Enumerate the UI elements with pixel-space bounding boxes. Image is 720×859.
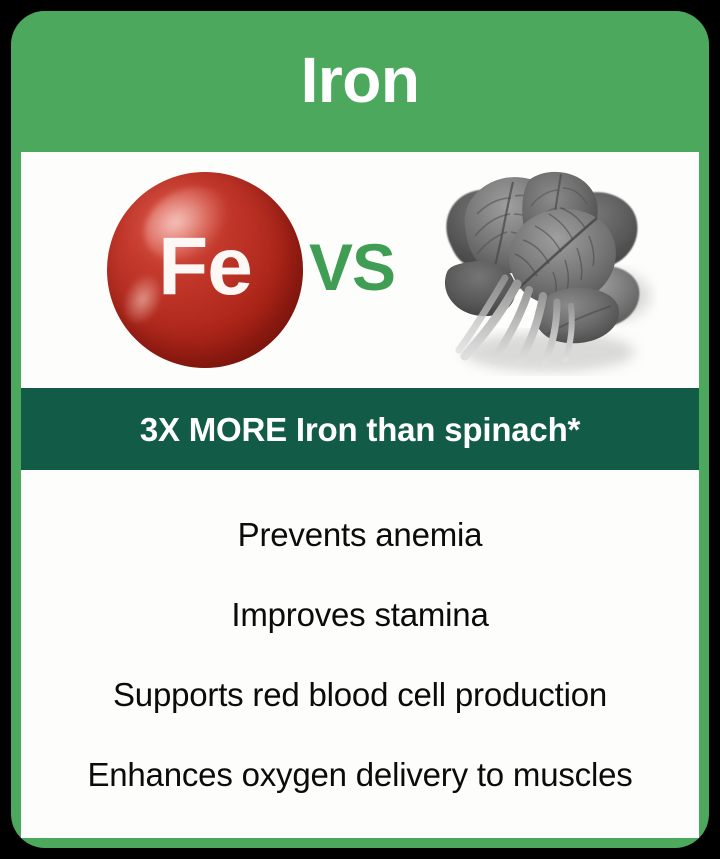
iron-element-sphere: Fe bbox=[57, 152, 303, 388]
benefits-list: Prevents anemia Improves stamina Support… bbox=[21, 470, 699, 838]
spinach-icon bbox=[421, 156, 657, 384]
spinach-bunch-photo bbox=[413, 152, 663, 388]
list-item: Prevents anemia bbox=[238, 494, 483, 574]
iron-nutrient-card: Iron Fe VS bbox=[11, 11, 709, 848]
comparison-strip: Fe VS bbox=[21, 152, 699, 388]
page-title: Iron bbox=[301, 48, 420, 116]
claim-text: 3X MORE Iron than spinach* bbox=[140, 413, 580, 446]
element-symbol-label: Fe bbox=[158, 226, 252, 314]
list-item: Enhances oxygen delivery to muscles bbox=[87, 734, 632, 814]
list-item: Supports red blood cell production bbox=[113, 654, 607, 734]
claim-banner: 3X MORE Iron than spinach* bbox=[21, 388, 699, 470]
card-header: Iron bbox=[11, 11, 709, 152]
list-item: Improves stamina bbox=[231, 574, 488, 654]
versus-label: VS bbox=[303, 234, 413, 306]
iron-sphere-icon: Fe bbox=[107, 172, 303, 368]
